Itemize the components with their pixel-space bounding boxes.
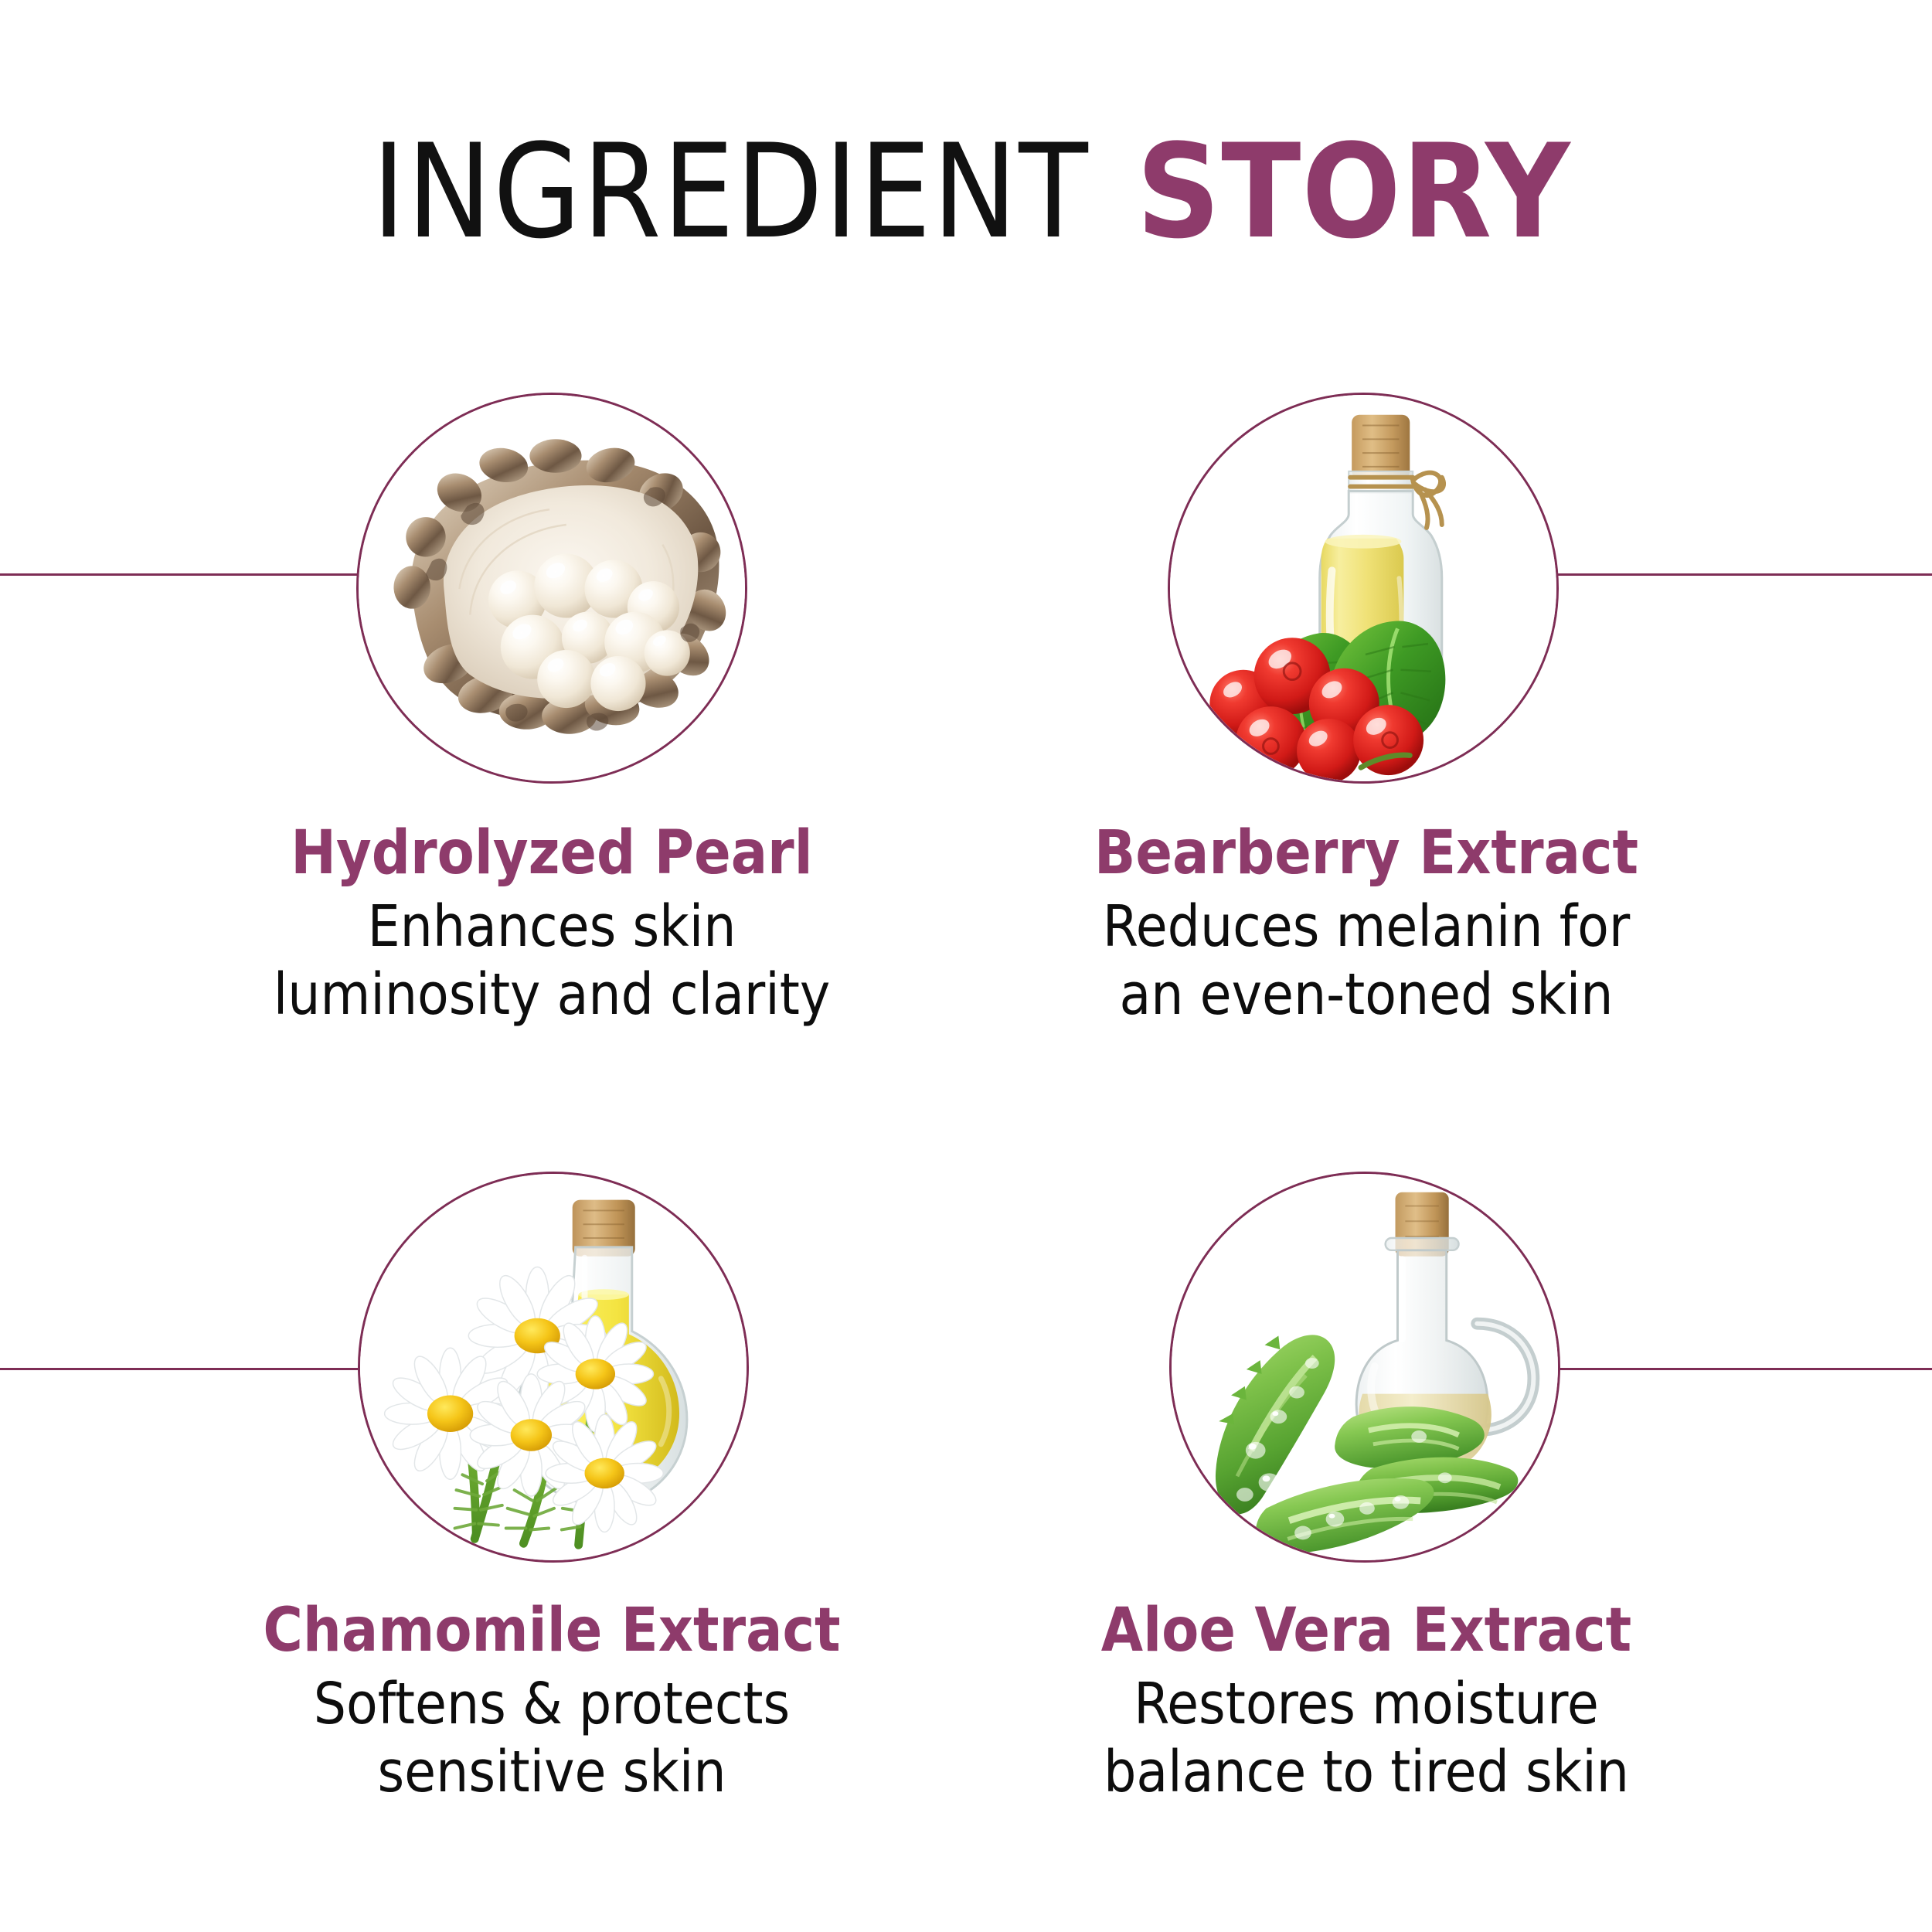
ingredient-image-circle-4 <box>1169 1172 1560 1563</box>
connector-line-row2-left <box>0 1368 360 1370</box>
bearberry-oil-bottle-with-red-berries-photo <box>1170 395 1556 781</box>
ingredient-description-2-line1: Reduces melanin for <box>903 893 1830 961</box>
ingredient-description-3: Softens & protects sensitive skin <box>88 1671 1015 1806</box>
ingredient-caption-1: Hydrolyzed Pearl Enhances skin luminosit… <box>88 821 1015 1029</box>
ingredient-image-circle-1 <box>356 393 747 784</box>
page-title-accent: STORY <box>1136 116 1570 267</box>
page-title: INGREDIENTSTORY <box>0 116 1932 267</box>
ingredient-name-1: Hydrolyzed Pearl <box>88 821 1015 886</box>
connector-line-row2-right <box>1556 1368 1932 1370</box>
ingredient-description-3-line1: Softens & protects <box>88 1671 1015 1738</box>
ingredient-description-1-line1: Enhances skin <box>88 893 1015 961</box>
ingredient-description-4-line2: balance to tired skin <box>903 1739 1830 1806</box>
ingredient-description-1: Enhances skin luminosity and clarity <box>88 893 1015 1029</box>
ingredient-description-3-line2: sensitive skin <box>88 1739 1015 1806</box>
ingredient-description-2: Reduces melanin for an even-toned skin <box>903 893 1830 1029</box>
connector-line-row1-right <box>1555 573 1932 576</box>
ingredient-name-4: Aloe Vera Extract <box>903 1598 1830 1663</box>
ingredient-description-4: Restores moisture balance to tired skin <box>903 1671 1830 1806</box>
ingredient-image-circle-3 <box>358 1172 749 1563</box>
ingredient-name-2: Bearberry Extract <box>903 821 1830 886</box>
connector-line-row1-left <box>0 573 359 576</box>
ingredient-caption-2: Bearberry Extract Reduces melanin for an… <box>903 821 1830 1029</box>
aloe-vera-slices-with-glass-carafe-photo <box>1172 1174 1558 1560</box>
page-title-primary: INGREDIENT <box>372 116 1090 267</box>
ingredient-caption-4: Aloe Vera Extract Restores moisture bala… <box>903 1598 1830 1806</box>
chamomile-flowers-with-oil-flask-photo <box>360 1174 747 1560</box>
ingredient-description-4-line1: Restores moisture <box>903 1671 1830 1738</box>
ingredient-description-1-line2: luminosity and clarity <box>88 961 1015 1029</box>
ingredient-name-3: Chamomile Extract <box>88 1598 1015 1663</box>
ingredient-image-circle-2 <box>1168 393 1559 784</box>
ingredient-caption-3: Chamomile Extract Softens & protects sen… <box>88 1598 1015 1806</box>
ingredient-story-infographic: INGREDIENTSTORY <box>0 0 1932 1932</box>
oyster-shell-with-pearls-photo <box>359 395 745 781</box>
ingredient-description-2-line2: an even-toned skin <box>903 961 1830 1029</box>
